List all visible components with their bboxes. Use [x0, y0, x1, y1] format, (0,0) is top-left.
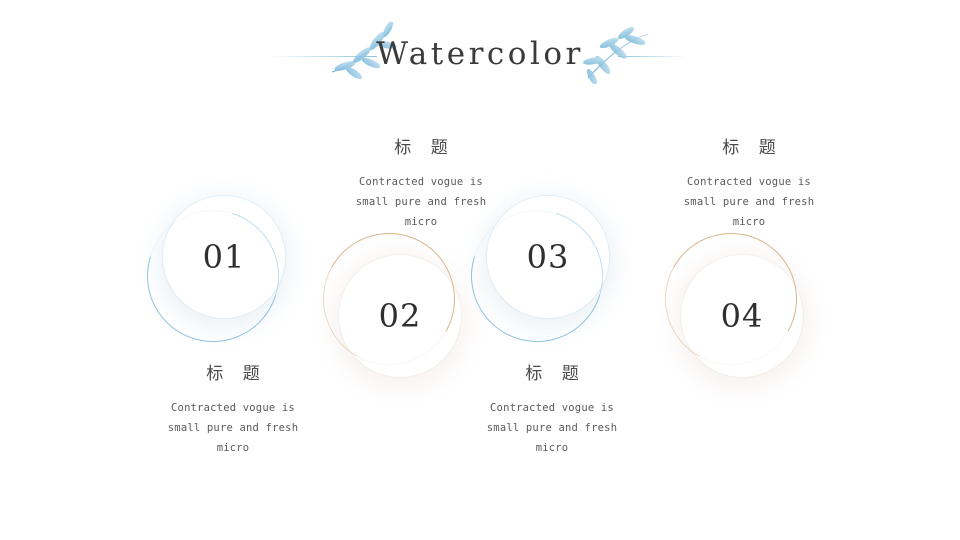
slide-canvas: Watercolor 01 标 题 Contracted vogue is sm…	[0, 0, 960, 540]
step-title: 标 题	[634, 136, 864, 160]
step-circle-03[interactable]: 03	[459, 168, 659, 368]
step-text-04: 标 题 Contracted vogue is small pure and f…	[634, 136, 864, 232]
step-circle-04[interactable]: 04	[653, 227, 853, 427]
step-body: Contracted vogue is small pure and fresh…	[437, 398, 667, 458]
step-body-line: micro	[118, 438, 348, 458]
step-title: 标 题	[437, 362, 667, 386]
step-body-line: small pure and fresh	[634, 192, 864, 212]
step-body-line: Contracted vogue is	[437, 398, 667, 418]
step-number: 04	[681, 255, 803, 377]
step-text-03: 标 题 Contracted vogue is small pure and f…	[437, 362, 667, 458]
step-body-line: small pure and fresh	[437, 418, 667, 438]
step-title: 标 题	[306, 136, 536, 160]
step-body-line: micro	[634, 212, 864, 232]
step-body-line: micro	[437, 438, 667, 458]
step-circle-01[interactable]: 01	[135, 168, 335, 368]
slide-header: Watercolor	[0, 12, 960, 84]
step-number: 01	[163, 196, 285, 318]
step-number: 03	[487, 196, 609, 318]
step-body: Contracted vogue is small pure and fresh…	[634, 172, 864, 232]
page-title: Watercolor	[0, 34, 960, 74]
step-body-line: Contracted vogue is	[634, 172, 864, 192]
step-number: 02	[339, 255, 461, 377]
